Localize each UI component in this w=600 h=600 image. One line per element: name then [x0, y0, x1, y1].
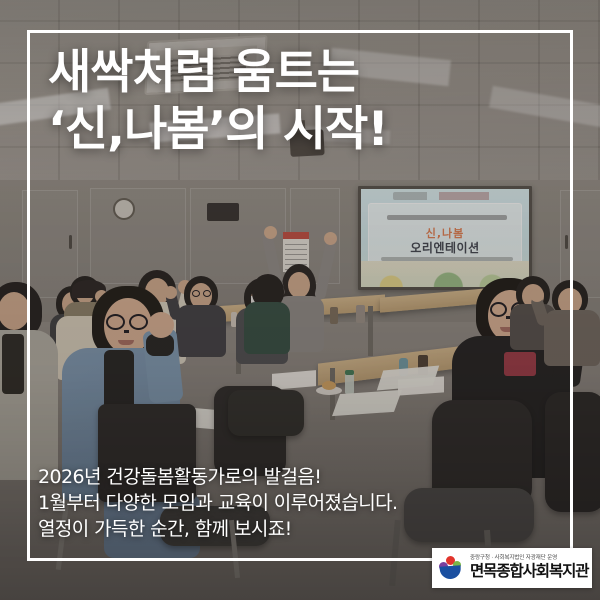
caption-line-1: 2026년 건강돌봄활동가로의 발걸음! — [38, 464, 468, 490]
logo-arc-blue — [440, 565, 462, 579]
page-title: 새싹처럼 움트는 ‘신,나봄’의 시작! — [48, 44, 568, 158]
caption-block: 2026년 건강돌봄활동가로의 발걸음! 1월부터 다양한 모임과 교육이 이루… — [38, 464, 468, 542]
logo-text-block: 중랑구청 · 사회복지법인 자광재단 운영 면목종합사회복지관 — [470, 556, 588, 579]
title-line-1: 새싹처럼 움트는 — [48, 44, 568, 101]
promo-card: 신,나봄 오리엔테이션 — [0, 0, 600, 600]
organization-logo: 중랑구청 · 사회복지법인 자광재단 운영 면목종합사회복지관 — [432, 548, 592, 588]
caption-line-3: 열정이 가득한 순간, 함께 보시죠! — [38, 516, 468, 542]
title-line-2: ‘신,나봄’의 시작! — [48, 101, 568, 158]
logo-name: 면목종합사회복지관 — [470, 564, 588, 580]
logo-mark-icon — [438, 556, 464, 580]
caption-line-2: 1월부터 다양한 모임과 교육이 이루어졌습니다. — [38, 490, 468, 516]
